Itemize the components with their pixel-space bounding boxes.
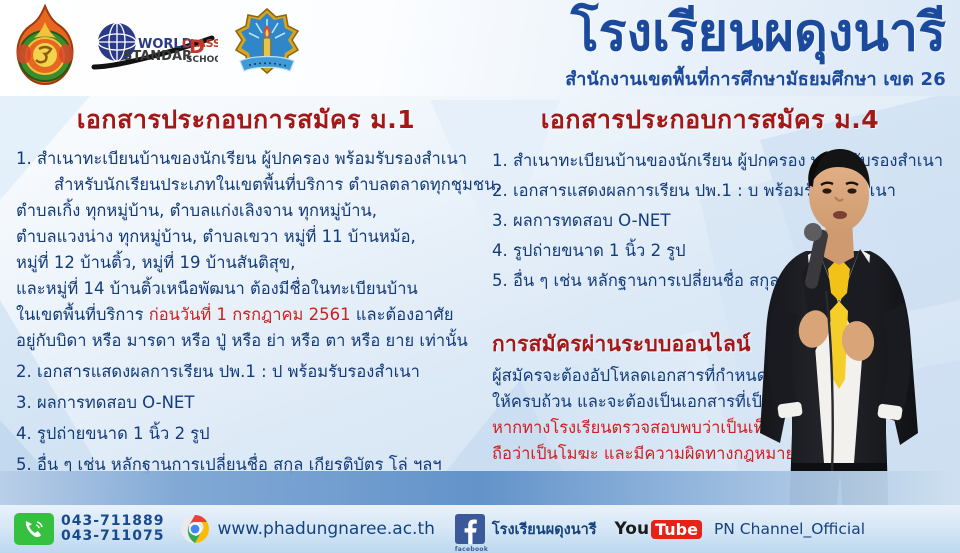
admission-poster: WORLD D CLASS STANDAR SCHOOL: [0, 0, 960, 553]
chrome-icon: [180, 514, 210, 544]
left-column-heading: เอกสารประกอบการสมัคร ม.1: [16, 100, 476, 140]
list-item: หมู่ที่ 12 บ้านติ้ว, หมู่ที่ 19 บ้านสันต…: [16, 250, 476, 276]
poster-header: WORLD D CLASS STANDAR SCHOOL: [0, 0, 960, 96]
list-item: ตำบลแวงน่าง ทุกหมู่บ้าน, ตำบลเขวา หมู่ที…: [16, 224, 476, 250]
footer-contact-bar: 043-711889 043-711075 www.phadungnaree.a…: [0, 505, 960, 553]
list-item: และหมู่ที่ 14 บ้านติ้วเหนือพัฒนา ต้องมีช…: [16, 276, 476, 302]
youtube-channel-name[interactable]: PN Channel_Official: [714, 520, 865, 538]
website-url[interactable]: www.phadungnaree.ac.th: [217, 519, 434, 539]
phone-contact: 043-711889 043-711075: [14, 513, 164, 545]
title-block: โรงเรียนผดุงนารี สำนักงานเขตพื้นที่การศึ…: [565, 2, 946, 93]
facebook-contact[interactable]: facebook โรงเรียนผดุงนารี: [455, 514, 597, 544]
svg-text:SCHOOL: SCHOOL: [186, 55, 218, 65]
list-item: 4. รูปถ่ายขนาด 1 นิ้ว 2 รูป: [16, 421, 476, 447]
list-item: 3. ผลการทดสอบ O-NET: [16, 390, 476, 416]
youtube-logo: You Tube: [615, 519, 702, 539]
service-area-date-line: ในเขตพื้นที่บริการ ก่อนวันที่ 1 กรกฎาคม …: [16, 302, 476, 328]
phadungnaree-school-emblem: [228, 5, 306, 87]
left-column: เอกสารประกอบการสมัคร ม.1 1. สำเนาทะเบียน…: [16, 100, 476, 478]
svg-text:STANDAR: STANDAR: [123, 49, 192, 64]
phone-number-1: 043-711889: [61, 514, 164, 529]
list-item: 2. เอกสารแสดงผลการเรียน ปพ.1 : ป พร้อมรั…: [16, 359, 476, 385]
facebook-page-name[interactable]: โรงเรียนผดุงนารี: [492, 518, 597, 541]
facebook-caption: facebook: [455, 546, 485, 553]
website-contact[interactable]: www.phadungnaree.ac.th: [180, 514, 434, 544]
logo-row: WORLD D CLASS STANDAR SCHOOL: [10, 4, 306, 88]
date-line-suffix: และต้องอาศัย: [351, 305, 454, 324]
phone-numbers: 043-711889 043-711075: [61, 514, 164, 544]
list-item: ตำบลเกิ้ง ทุกหมู่บ้าน, ตำบลแก่งเลิงจาน ท…: [16, 198, 476, 224]
phone-number-2: 043-711075: [61, 529, 164, 544]
school-subtitle: สำนักงานเขตพื้นที่การศึกษามัธยมศึกษา เขต…: [565, 64, 946, 93]
list-item: 1. สำเนาทะเบียนบ้านของนักเรียน ผู้ปกครอง…: [16, 146, 476, 172]
deadline-highlight: ก่อนวันที่ 1 กรกฎาคม 2561: [149, 305, 351, 324]
world-class-standard-school-logo: WORLD D CLASS STANDAR SCHOOL: [90, 17, 218, 75]
ministry-of-education-emblem: [10, 4, 80, 88]
decorative-blue-band: [0, 471, 960, 505]
facebook-icon: facebook: [455, 514, 485, 544]
date-line-prefix: ในเขตพื้นที่บริการ: [16, 305, 149, 324]
school-title: โรงเรียนผดุงนารี: [565, 2, 946, 64]
phone-icon: [14, 513, 54, 545]
youtube-tube-text: Tube: [651, 520, 702, 539]
list-item: อยู่กับบิดา หรือ มารดา หรือ ปู่ หรือ ย่า…: [16, 328, 476, 354]
youtube-you-text: You: [615, 519, 650, 539]
list-item: สำหรับนักเรียนประเภทในเขตพื้นที่บริการ ต…: [16, 172, 476, 198]
youtube-contact[interactable]: You Tube PN Channel_Official: [615, 519, 865, 539]
